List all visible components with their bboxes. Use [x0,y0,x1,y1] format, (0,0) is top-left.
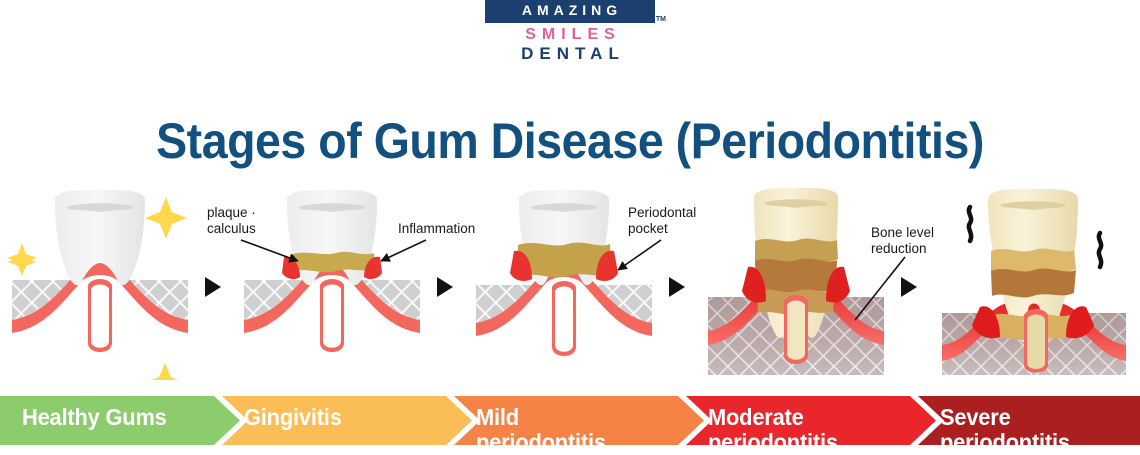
logo-dental-text: DENTAL [485,44,655,64]
play-triangle-icon [666,275,688,299]
logo-smiles-text: SMILES [485,25,655,44]
banner-label: Mild periodontitis [476,405,606,455]
stage-healthy-gums [0,185,200,380]
annotation-periodontal-pocket: Periodontal pocket [628,205,696,237]
play-triangle-icon [202,275,224,299]
banner-label: Severe periodontitis [940,405,1070,455]
banner-label: Moderate periodontitis [708,405,838,455]
banner-item-mild-periodontitis[interactable]: Mild periodontitis [454,396,704,445]
banner-label: Gingivitis [244,405,342,430]
stage-moderate-periodontitis [696,185,896,380]
play-triangle-icon [898,275,920,299]
stage-severe-periodontitis [928,185,1140,380]
stage-separator-2 [432,185,458,380]
banner-item-moderate-periodontitis[interactable]: Moderate periodontitis [686,396,936,445]
stage-separator-4 [896,185,922,380]
page-title: Stages of Gum Disease (Periodontitis) [40,112,1100,170]
sparkle-icon [8,248,36,276]
banner-item-severe-periodontitis[interactable]: Severe periodontitis [918,396,1140,445]
banner-item-healthy-gums[interactable]: Healthy Gums [0,396,240,445]
annotation-bone-level-reduction: Bone level reduction [871,225,934,257]
stage-gingivitis [232,185,432,380]
annotation-plaque-calculus: plaque · calculus [207,205,256,237]
annotation-inflammation: Inflammation [398,221,475,237]
stages-diagram-row: plaque · calculus Inflammation Periodont… [0,185,1140,380]
play-triangle-icon [434,275,456,299]
plaque-band [290,252,376,272]
logo-amazing-bar: AMAZING TM [485,0,655,23]
logo-trademark: TM [656,16,666,23]
banner-item-gingivitis[interactable]: Gingivitis [222,396,472,445]
banner-label: Healthy Gums [22,405,167,430]
brand-logo: AMAZING TM SMILES DENTAL [0,0,1140,62]
stage-progress-banner: Healthy Gums Gingivitis Mild periodontit… [0,396,1140,445]
logo-amazing-text: AMAZING [518,3,622,18]
